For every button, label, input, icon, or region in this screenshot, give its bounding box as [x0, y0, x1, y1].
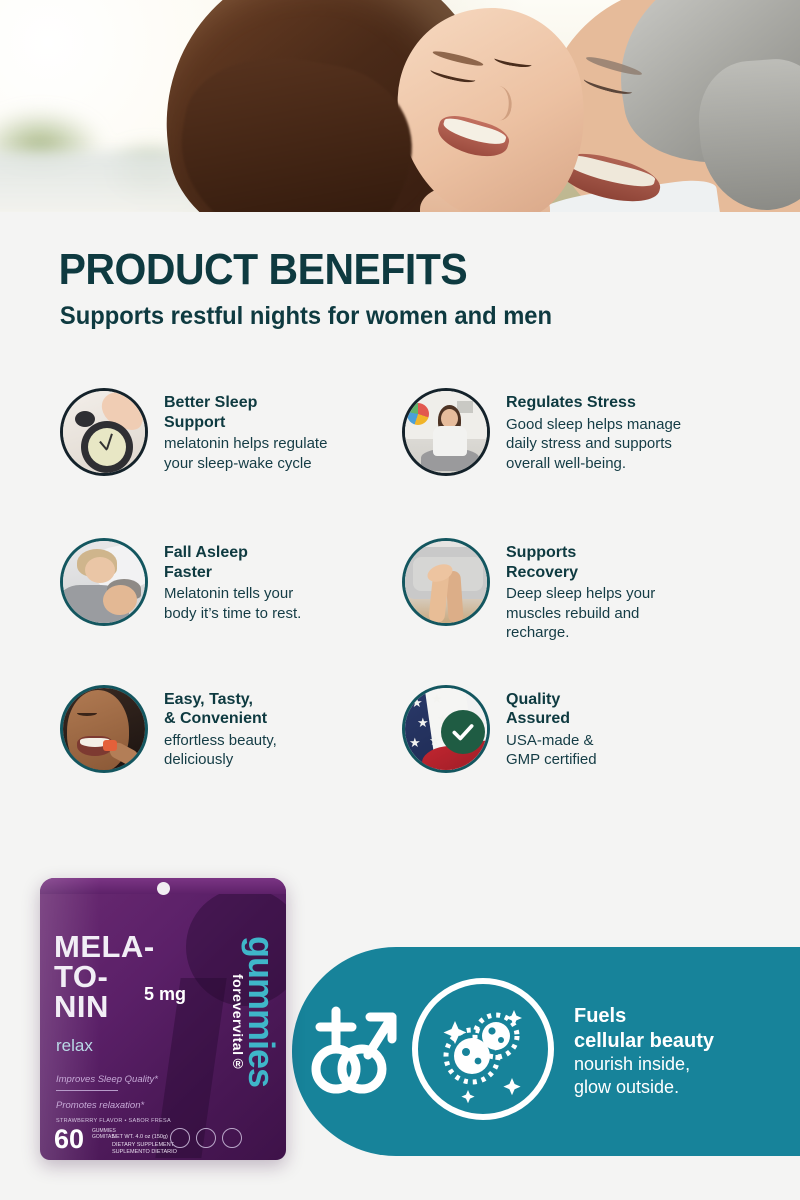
- meditating-woman-icon: [402, 388, 490, 476]
- benefit-item-supports-recovery: Supports Recovery Deep sleep helps your …: [390, 538, 800, 643]
- benefit-title: Better Sleep Support: [164, 393, 327, 432]
- product-tagline: relax: [56, 1036, 93, 1056]
- resting-legs-icon: [402, 538, 490, 626]
- male-female-symbol-icon: [306, 995, 402, 1108]
- sleeping-couple-icon: [60, 538, 148, 626]
- benefit-body: USA-made & GMP certified: [506, 731, 597, 770]
- benefit-item-better-sleep-support: Better Sleep Support melatonin helps reg…: [0, 388, 390, 476]
- benefits-grid: Better Sleep Support melatonin helps reg…: [0, 388, 800, 773]
- benefit-body: Melatonin tells your body it’s time to r…: [164, 584, 301, 623]
- banner-line-1: Fuels: [574, 1004, 714, 1028]
- benefit-title: Regulates Stress: [506, 393, 681, 413]
- alarm-clock-icon: [60, 388, 148, 476]
- product-dose: 5 mg: [144, 984, 186, 1005]
- product-form: gummies: [240, 936, 282, 1087]
- hero-photo: [0, 0, 800, 212]
- woman-eating-gummy-icon: [60, 685, 148, 773]
- benefit-body: Deep sleep helps your muscles rebuild an…: [506, 584, 655, 643]
- cellular-beauty-banner: Fuels cellular beauty nourish inside, gl…: [292, 947, 800, 1156]
- benefit-body: effortless beauty, deliciously: [164, 731, 277, 770]
- headings-block: PRODUCT BENEFITS Supports restful nights…: [0, 248, 800, 329]
- badge-gluten-free-icon: [196, 1128, 216, 1148]
- product-divider: [56, 1090, 118, 1091]
- benefit-title: Quality Assured: [506, 690, 597, 729]
- benefit-title: Fall Asleep Faster: [164, 543, 301, 582]
- benefit-item-regulates-stress: Regulates Stress Good sleep helps manage…: [390, 388, 800, 476]
- page-title: PRODUCT BENEFITS: [0, 248, 744, 292]
- banner-line-2: cellular beauty: [574, 1029, 714, 1053]
- benefit-row-1: Better Sleep Support melatonin helps reg…: [0, 388, 800, 476]
- benefit-title: Easy, Tasty, & Convenient: [164, 690, 277, 729]
- benefit-title: Supports Recovery: [506, 543, 655, 582]
- benefit-row-3: Easy, Tasty, & Convenient effortless bea…: [0, 685, 800, 773]
- benefit-item-easy-tasty-convenient: Easy, Tasty, & Convenient effortless bea…: [0, 685, 390, 773]
- product-claim-1: Improves Sleep Quality*: [56, 1074, 158, 1085]
- benefit-row-2: Fall Asleep Faster Melatonin tells your …: [0, 538, 800, 643]
- benefit-item-quality-assured: ★ ★ ★ ★ ★ ★ Quality Assured USA-made & G…: [390, 685, 800, 773]
- benefit-item-fall-asleep-faster: Fall Asleep Faster Melatonin tells your …: [0, 538, 390, 643]
- page-subtitle: Supports restful nights for women and me…: [0, 304, 760, 329]
- product-supplement-label: DIETARY SUPPLEMENT SUPLEMENTO DIETARIO: [112, 1142, 177, 1156]
- product-net-weight: NET WT. 4.0 oz (150g): [112, 1134, 168, 1140]
- product-certification-badges: [170, 1128, 242, 1148]
- benefit-body: melatonin helps regulate your sleep-wake…: [164, 434, 327, 473]
- benefit-body: Good sleep helps manage daily stress and…: [506, 415, 681, 474]
- product-name: MELA- TO- NIN: [54, 932, 155, 1021]
- product-claim-2: Promotes relaxation*: [56, 1100, 144, 1111]
- usa-flag-check-icon: ★ ★ ★ ★ ★ ★: [402, 685, 490, 773]
- product-pouch: MELA- TO- NIN 5 mg relax Improves Sleep …: [40, 878, 286, 1160]
- pouch-hang-hole: [157, 882, 170, 895]
- badge-vegetarian-icon: [222, 1128, 242, 1148]
- product-count: 60: [54, 1124, 84, 1155]
- cellular-beauty-icon: [408, 974, 558, 1129]
- banner-line-3: nourish inside, glow outside.: [574, 1053, 714, 1098]
- banner-text-block: Fuels cellular beauty nourish inside, gl…: [574, 1004, 714, 1098]
- check-badge-icon: [441, 710, 485, 754]
- badge-no-gmo-icon: [170, 1128, 190, 1148]
